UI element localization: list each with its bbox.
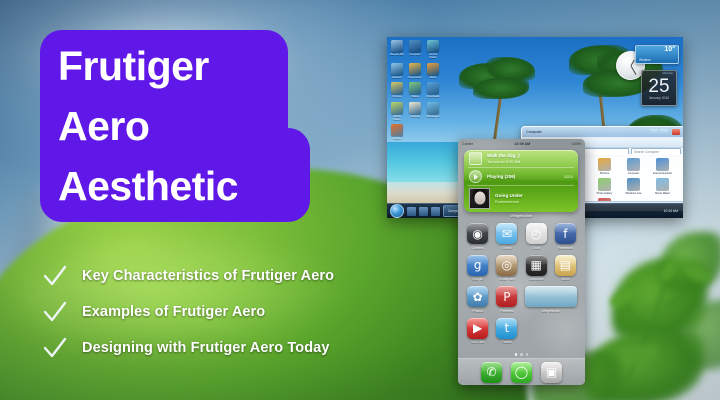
photos-icon[interactable]: ✿: [467, 286, 488, 307]
close-button[interactable]: [672, 129, 680, 135]
reminder-icon: [469, 152, 482, 165]
app-label: Instagram: [493, 277, 520, 281]
desktop-icon-label: Notepad: [408, 115, 422, 118]
reminder-subtitle: Tomorrow 6:30 AM: [487, 159, 520, 165]
explorer-file-icon: [656, 178, 669, 191]
app-tile[interactable]: ◴Clock: [523, 223, 550, 250]
phone-battery: 100%: [572, 142, 581, 146]
dock-glyph: ✆: [481, 362, 502, 383]
app-tile[interactable]: ▦Calculator: [523, 255, 550, 282]
desktop-icon-label: Firefox: [390, 137, 404, 140]
app-glyph: f: [555, 223, 576, 244]
desktop-icon[interactable]: Firefox: [390, 124, 404, 140]
calculator-icon[interactable]: ▦: [526, 255, 547, 276]
app-tile[interactable]: ▤Notes: [552, 255, 579, 282]
messages-icon[interactable]: ◯: [511, 362, 532, 383]
phone-app-grid: ◉Camera✉Gmail◴ClockfFacebookgGoogle◎Inst…: [463, 223, 580, 344]
desktop-icon-glyph: [409, 40, 421, 52]
app-glyph: ✿: [467, 286, 488, 307]
list-item: Key Characteristics of Frutiger Aero: [42, 258, 402, 294]
app-tile[interactable]: ◉Camera: [464, 223, 491, 250]
desktop-icon-glyph: [427, 63, 439, 75]
playing-label: Playing (206): [487, 174, 515, 180]
desktop-icon-glyph: [391, 63, 403, 75]
quicklaunch-icon[interactable]: [431, 207, 440, 216]
facetime-icon[interactable]: ▣: [541, 362, 562, 383]
page-indicator[interactable]: [458, 353, 585, 356]
app-label: Calculator: [523, 277, 550, 281]
explorer-file-icon: [656, 158, 669, 171]
app-label: Clock: [523, 246, 550, 250]
list-item: Examples of Frutiger Aero: [42, 294, 402, 330]
phone-dock: ✆◯▣: [458, 358, 585, 385]
app-label: Notes: [552, 277, 579, 281]
explorer-file-item[interactable]: Internet Explorer: [649, 158, 676, 175]
clock-icon[interactable]: ◴: [526, 223, 547, 244]
app-glyph: g: [467, 255, 488, 276]
widget-nowplaying-row[interactable]: Going Under Evanescence: [464, 186, 578, 211]
widget-player-row[interactable]: Playing (206) 0/212: [464, 168, 578, 185]
phone-clock: 10:09 AM: [515, 142, 531, 146]
page-dot[interactable]: [526, 353, 529, 356]
desktop-icon[interactable]: Documents: [408, 63, 422, 79]
explorer-file-label: Windows Live: [620, 192, 647, 195]
album-art-face: [474, 191, 485, 204]
app-tile[interactable]: fFacebook: [552, 223, 579, 250]
quicklaunch-icon[interactable]: [407, 207, 416, 216]
pinterest-icon[interactable]: P: [496, 286, 517, 307]
desktop-icon[interactable]: Downloads: [426, 82, 440, 98]
desktop-icon[interactable]: Computer: [408, 40, 422, 60]
explorer-file-icon: [627, 158, 640, 171]
desktop-icon-glyph: [391, 40, 403, 52]
app-glyph: [525, 286, 577, 307]
facebook-icon[interactable]: f: [555, 223, 576, 244]
track-progress: 0/212: [564, 175, 573, 179]
explorer-file-item[interactable]: Computer: [620, 158, 647, 175]
notes-icon[interactable]: ▤: [555, 255, 576, 276]
app-label: Widgetsmith: [523, 309, 579, 313]
app-glyph: ✉: [496, 223, 517, 244]
app-tile[interactable]: Widgetsmith: [523, 286, 579, 313]
explorer-file-label: Internet Explorer: [649, 172, 676, 175]
app-glyph: ▶: [467, 318, 488, 339]
app-tile[interactable]: PPinterest: [493, 286, 520, 313]
explorer-file-icon: [598, 158, 611, 171]
system-tray-clock[interactable]: 10:10 AM: [664, 209, 680, 213]
google-icon[interactable]: g: [467, 255, 488, 276]
desktop-icon-label: Control Panel: [426, 53, 440, 60]
mail-icon[interactable]: ✉: [496, 223, 517, 244]
explorer-file-label: Movie Maker: [649, 192, 676, 195]
desktop-icon[interactable]: Media Player: [390, 102, 404, 122]
desktop-icon-label: Videos: [408, 95, 422, 98]
explorer-window-title: Computer: [526, 130, 542, 134]
desktop-icon[interactable]: Videos: [408, 82, 422, 98]
app-label: Gmail: [493, 246, 520, 250]
explorer-file-label: Computer: [620, 172, 647, 175]
app-label: YouTube: [464, 340, 491, 344]
twitter-icon[interactable]: t: [496, 318, 517, 339]
desktop-icon[interactable]: Pictures: [390, 82, 404, 98]
desktop-icon-glyph: [409, 82, 421, 94]
feature-list: Key Characteristics of Frutiger Aero Exa…: [42, 258, 402, 366]
desktop-icon-label: Downloads: [426, 95, 440, 98]
page-dot[interactable]: [515, 353, 518, 356]
list-item: Designing with Frutiger Aero Today: [42, 330, 402, 366]
check-icon: [42, 299, 68, 325]
desktop-icon[interactable]: Notepad: [408, 102, 422, 122]
app-glyph: P: [496, 286, 517, 307]
calendar-month: January 2010: [642, 96, 676, 100]
desktop-icon-glyph: [409, 63, 421, 75]
widget-reminder-row[interactable]: Walk the dog :) Tomorrow 6:30 AM: [464, 150, 578, 167]
explorer-file-label: Photo Gallery: [591, 192, 618, 195]
explorer-titlebar[interactable]: Computer: [522, 127, 683, 138]
widget-caption: Widgetlocker: [458, 214, 585, 218]
start-button[interactable]: [390, 204, 404, 218]
weather-location: Weather: [639, 58, 651, 62]
desktop-icon[interactable]: Network: [390, 63, 404, 79]
app-tile[interactable]: gGoogle: [464, 255, 491, 282]
app-tile[interactable]: tTwitter: [493, 318, 520, 345]
song-title: Going Under: [495, 193, 523, 199]
weather-gadget[interactable]: 10° Weather: [635, 45, 679, 64]
lockscreen-widget[interactable]: Walk the dog :) Tomorrow 6:30 AM Playing…: [464, 150, 578, 212]
dock-glyph: ▣: [541, 362, 562, 383]
app-glyph: ◎: [496, 255, 517, 276]
check-icon: [42, 335, 68, 361]
app-glyph: t: [496, 318, 517, 339]
desktop-icon-label: Documents: [408, 76, 422, 79]
desktop-icon-glyph: [391, 124, 403, 136]
app-tile[interactable]: ✿Photos: [464, 286, 491, 313]
play-icon[interactable]: [469, 170, 482, 183]
desktop-icon-label: Messenger: [426, 115, 440, 118]
desktop-icon[interactable]: Control Panel: [426, 40, 440, 60]
app-tile[interactable]: ✉Gmail: [493, 223, 520, 250]
youtube-icon[interactable]: ▶: [467, 318, 488, 339]
desktop-icon[interactable]: Recycle Bin: [390, 40, 404, 60]
desktop-icon-glyph: [409, 102, 421, 114]
desktop-icon[interactable]: Music: [426, 63, 440, 79]
phone-status-bar: Carrier 10:09 AM 100%: [458, 139, 585, 148]
album-art: [469, 188, 490, 209]
app-label: Google: [464, 277, 491, 281]
clock-minute-hand: [630, 65, 636, 74]
app-label: Twitter: [493, 340, 520, 344]
explorer-file-item[interactable]: Pictures: [591, 158, 618, 175]
desktop-icon-glyph: [427, 40, 439, 52]
desktop-icon-label: Network: [390, 76, 404, 79]
phone-carrier: Carrier: [462, 142, 473, 146]
check-icon: [42, 263, 68, 289]
app-tile[interactable]: ▶YouTube: [464, 318, 491, 345]
app-tile[interactable]: ◎Instagram: [493, 255, 520, 282]
list-item-label: Examples of Frutiger Aero: [82, 304, 265, 320]
explorer-file-item[interactable]: Movie Maker: [649, 178, 676, 195]
desktop-icon-label: Computer: [408, 53, 422, 56]
page-title: Frutiger Aero Aesthetic: [58, 36, 308, 216]
explorer-file-icon: [627, 178, 640, 191]
app-glyph: ◴: [526, 223, 547, 244]
desktop-icon-label: Media Player: [390, 115, 404, 122]
list-item-label: Key Characteristics of Frutiger Aero: [82, 268, 334, 284]
phone-icon[interactable]: ✆: [481, 362, 502, 383]
list-item-label: Designing with Frutiger Aero Today: [82, 340, 330, 356]
instagram-icon[interactable]: ◎: [496, 255, 517, 276]
camera-icon[interactable]: ◉: [467, 223, 488, 244]
explorer-file-label: Pictures: [591, 172, 618, 175]
desktop-icon-glyph: [427, 102, 439, 114]
phone-screenshot: Carrier 10:09 AM 100% Walk the dog :) To…: [458, 139, 585, 385]
app-glyph: ◉: [467, 223, 488, 244]
desktop-icon-glyph: [427, 82, 439, 94]
desktop-icon-glyph: [391, 82, 403, 94]
palm-fronds: [473, 77, 529, 99]
app-label: Photos: [464, 309, 491, 313]
dock-glyph: ◯: [511, 362, 532, 383]
desktop-icon-label: Recycle Bin: [390, 53, 404, 56]
desktop-icon-glyph: [391, 102, 403, 114]
slide-canvas: Frutiger Aero Aesthetic Key Characterist…: [0, 0, 720, 400]
minimize-button[interactable]: [650, 129, 658, 135]
app-label: Camera: [464, 246, 491, 250]
reminder-title: Walk the dog :): [487, 153, 520, 159]
song-artist: Evanescence: [495, 199, 523, 205]
app-glyph: ▤: [555, 255, 576, 276]
app-glyph: ▦: [526, 255, 547, 276]
quicklaunch-icon[interactable]: [419, 207, 428, 216]
maximize-button[interactable]: [660, 129, 668, 135]
desktop-icon-label: Music: [426, 76, 440, 79]
desktop-icon-grid: Recycle BinComputerControl PanelNetworkD…: [390, 40, 454, 141]
weather-temperature: 10°: [664, 46, 675, 53]
title-block: Frutiger Aero Aesthetic: [40, 30, 312, 222]
page-dot[interactable]: [520, 353, 523, 356]
explorer-file-item[interactable]: Windows Live: [620, 178, 647, 195]
water-widget-icon[interactable]: [525, 286, 577, 307]
desktop-icon-label: Pictures: [390, 95, 404, 98]
app-label: Facebook: [552, 246, 579, 250]
explorer-file-icon: [598, 178, 611, 191]
calendar-gadget[interactable]: Monday 25 January 2010: [641, 70, 677, 106]
explorer-file-item[interactable]: Photo Gallery: [591, 178, 618, 195]
app-label: Pinterest: [493, 309, 520, 313]
desktop-icon[interactable]: Messenger: [426, 102, 440, 122]
